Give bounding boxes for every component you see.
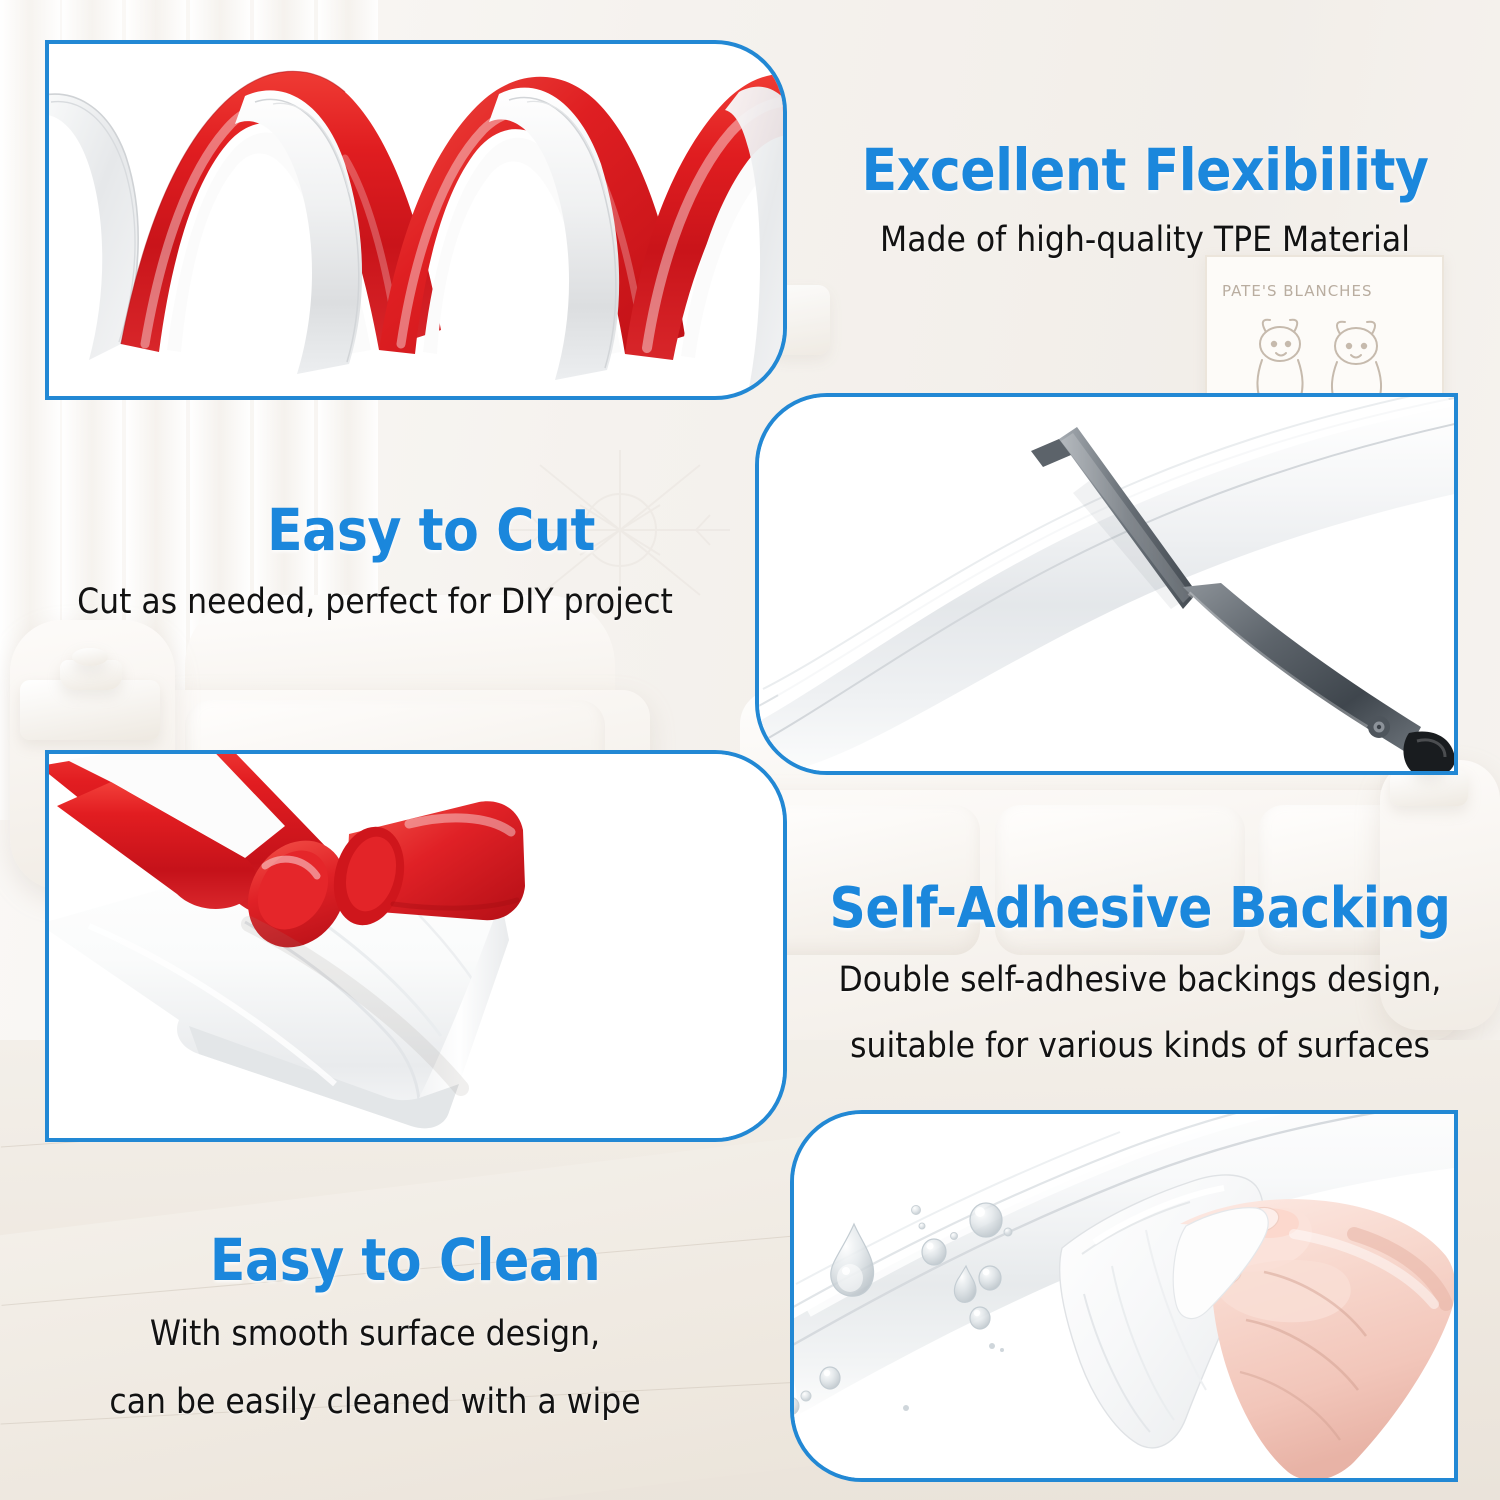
cup-lid (72, 648, 108, 666)
feature-panel-clean (790, 1110, 1458, 1482)
feature-text-adhesive: Self-Adhesive Backing Double self-adhesi… (790, 880, 1490, 1069)
feature-text-cut: Easy to Cut Cut as needed, perfect for D… (20, 500, 730, 626)
subtitle-clean-line-1: With smooth surface design, (20, 1312, 730, 1358)
subtitle-cut: Cut as needed, perfect for DIY project (20, 580, 730, 626)
feature-panel-flexibility (45, 40, 787, 400)
subtitle-adhesive-line-1: Double self-adhesive backings design, (790, 958, 1490, 1004)
feature-panel-cut (755, 393, 1458, 775)
scissors-cutting-image (759, 397, 1454, 771)
headline-adhesive: Self-Adhesive Backing (790, 880, 1490, 938)
subtitle-flexibility: Made of high-quality TPE Material (795, 218, 1495, 264)
feature-text-flexibility: Excellent Flexibility Made of high-quali… (795, 140, 1495, 264)
feature-panel-adhesive (45, 750, 787, 1142)
headline-cut: Easy to Cut (76, 500, 786, 560)
feature-text-clean: Easy to Clean With smooth surface design… (20, 1230, 730, 1425)
wipe-clean-image (794, 1114, 1454, 1478)
adhesive-backing-image (49, 754, 783, 1138)
subtitle-adhesive-line-2: suitable for various kinds of surfaces (790, 1024, 1490, 1070)
spiral-strip-image (49, 44, 783, 396)
headline-clean: Easy to Clean (50, 1230, 760, 1290)
subtitle-clean-line-2: can be easily cleaned with a wipe (20, 1380, 730, 1426)
wall-art-caption: PATE'S BLANCHES (1222, 282, 1372, 300)
headline-flexibility: Excellent Flexibility (795, 140, 1495, 200)
